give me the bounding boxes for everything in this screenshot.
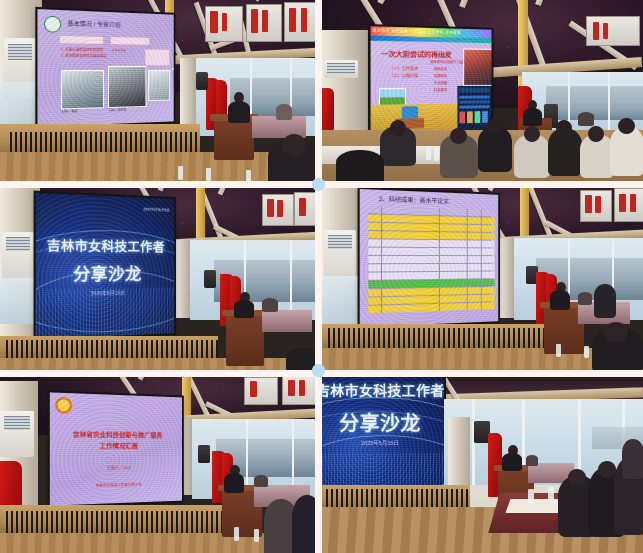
- pillar: [448, 417, 470, 487]
- slide-thumb-caption: 人物二 研究员: [108, 107, 126, 112]
- wall-banner: [614, 188, 643, 222]
- city-skyline: [546, 86, 643, 110]
- photo-cell-2[interactable]: 基本情况 科研成果 人才培养 社会服务 未来展望 一次大胆尝试的再出发 （一）工…: [322, 0, 643, 181]
- photo-3-scene: 吉林市科学技术协会 吉林市女科技工作者 分享沙龙 2025年5月15日: [0, 188, 315, 370]
- stage-skyline-silhouette: [10, 132, 200, 154]
- slide-title-line1: 吉林市女科技工作者: [322, 381, 444, 401]
- water-bottle: [254, 529, 259, 542]
- wall-banner: [282, 377, 315, 405]
- loudspeaker: [196, 72, 208, 90]
- slide-list-item: 科研攻关: [434, 66, 447, 71]
- pillar: [176, 240, 190, 318]
- slide-bullet: （一）工作现状: [389, 66, 418, 72]
- photo-cell-3[interactable]: 吉林市科学技术协会 吉林市女科技工作者 分享沙龙 2025年5月15日: [0, 188, 315, 370]
- slide-list-item: 社会服务: [434, 87, 447, 92]
- gold-column: [196, 188, 205, 244]
- water-bottle: [246, 170, 251, 181]
- water-bottle: [584, 346, 589, 358]
- slide-logo-icon: [55, 397, 72, 414]
- photo-cell-5[interactable]: 吉林省农业科技创新与推广服务 工作情况汇报 汇报人：XXX 吉林市女科技工作者分…: [0, 377, 315, 553]
- slide-thumb-caption: 人物一 教授: [61, 109, 78, 114]
- led-screen: 吉林省农业科技创新与推广服务 工作情况汇报 汇报人：XXX 吉林市女科技工作者分…: [50, 392, 182, 505]
- slide-title-line2: 工作情况汇报: [50, 440, 182, 450]
- pillar: [500, 238, 514, 318]
- slide-corner-text: 吉林市科学技术协会: [143, 206, 170, 212]
- wall-banner: [262, 194, 294, 226]
- water-bottle: [528, 489, 534, 504]
- slide-title-line2: 分享沙龙: [36, 260, 175, 286]
- photo-5-scene: 吉林省农业科技创新与推广服务 工作情况汇报 汇报人：XXX 吉林市女科技工作者分…: [0, 377, 315, 553]
- air-conditioner: [2, 232, 34, 282]
- led-screen: 基本情况 科研成果 人才培养 社会服务 未来展望 一次大胆尝试的再出发 （一）工…: [371, 26, 492, 134]
- standing-person: [594, 284, 616, 318]
- led-screen: 吉林市科学技术协会 吉林市女科技工作者 分享沙龙 2025年5月15日: [36, 193, 175, 339]
- attendee: [262, 298, 278, 312]
- slide-title-line2: 分享沙龙: [322, 407, 444, 436]
- stage-skyline-silhouette: [328, 328, 544, 348]
- slide-list-item: 平台搭建: [434, 80, 447, 85]
- air-conditioner: [0, 411, 34, 457]
- air-conditioner: [324, 230, 356, 282]
- loudspeaker: [204, 270, 216, 288]
- audience-member: [622, 439, 643, 479]
- wall-banner: [246, 4, 282, 42]
- gutter-dot: [312, 178, 325, 191]
- speaker-body: [228, 101, 250, 123]
- water-bottle: [426, 146, 431, 160]
- attendee: [526, 455, 538, 466]
- wall-banner: [586, 16, 640, 46]
- led-screen: 2、科研成果：高水平论文 吉林大学: [360, 189, 499, 327]
- photo-cell-4[interactable]: 2、科研成果：高水平论文 吉林大学: [322, 188, 643, 370]
- slide-title: 基本情况 / 专家介绍: [67, 19, 120, 30]
- slide-portrait: [61, 70, 104, 109]
- wall-banner: [580, 190, 612, 222]
- audience-foreground: [292, 495, 315, 553]
- photo-cell-6[interactable]: 吉林市女科技工作者 分享沙龙 2025年5月15日: [322, 377, 643, 553]
- photo-2-scene: 基本情况 科研成果 人才培养 社会服务 未来展望 一次大胆尝试的再出发 （一）工…: [322, 0, 643, 181]
- slide-portrait: [108, 66, 146, 108]
- slide-portrait: [148, 70, 170, 101]
- audience-foreground: [336, 150, 384, 181]
- stage-skyline-silhouette: [6, 511, 226, 533]
- slide-subtitle: 2025年5月15日: [322, 439, 444, 447]
- podium: [226, 314, 264, 366]
- water-bottle: [178, 166, 183, 180]
- water-bottle: [548, 487, 554, 502]
- wall-banner: [284, 2, 315, 42]
- photo-4-scene: 2、科研成果：高水平论文 吉林大学: [322, 188, 643, 370]
- slide-bullet: （二）心路历程: [389, 73, 418, 79]
- red-flag: [322, 88, 334, 134]
- photo-cell-1[interactable]: 基本情况 / 专家介绍 1. 主要从事新型材料的研究 2. 承担国家自然科学基金…: [0, 0, 315, 181]
- audience-foreground: [286, 348, 315, 370]
- slide-title-line1: 吉林省农业科技创新与推广服务: [50, 428, 182, 439]
- water-bottle: [234, 527, 239, 541]
- attendee: [254, 475, 268, 487]
- photo-6-scene: 吉林市女科技工作者 分享沙龙 2025年5月15日: [322, 377, 643, 553]
- photo-collage: 基本情况 / 专家介绍 1. 主要从事新型材料的研究 2. 承担国家自然科学基金…: [0, 0, 643, 553]
- wall-banner: [205, 6, 243, 42]
- head-table: [262, 310, 312, 332]
- floor: [0, 358, 315, 370]
- water-bottle: [434, 148, 439, 161]
- water-bottle: [206, 168, 211, 181]
- wall-banner: [244, 377, 278, 405]
- speaker-body: [224, 473, 244, 493]
- speaker-body: [523, 108, 542, 126]
- photo-1-scene: 基本情况 / 专家介绍 1. 主要从事新型材料的研究 2. 承担国家自然科学基金…: [0, 0, 315, 181]
- attendee: [578, 292, 592, 305]
- attendee: [276, 104, 292, 120]
- slide-group-photo: [463, 49, 491, 86]
- slide-title-line1: 吉林市女科技工作者: [36, 235, 175, 256]
- water-bottle: [556, 344, 561, 357]
- slide-table: [368, 206, 491, 313]
- slide-list-item: 成果转化: [434, 73, 447, 78]
- gutter-dot: [312, 364, 325, 377]
- stage-skyline-silhouette: [6, 340, 218, 358]
- speaker-body: [234, 300, 254, 318]
- gold-column: [520, 188, 529, 240]
- air-conditioner: [324, 60, 358, 78]
- led-screen: 基本情况 / 专家介绍 1. 主要从事新型材料的研究 2. 承担国家自然科学基金…: [37, 9, 173, 127]
- slide-list-item: 培养青年科技骨干力量: [430, 59, 463, 64]
- loudspeaker: [198, 445, 210, 463]
- slide-list-item: 团队建设: [434, 52, 447, 57]
- slide-note-2: 2. 承担国家自然科学基金项目: [61, 54, 106, 59]
- podium: [214, 118, 254, 160]
- wall-banner: [294, 192, 315, 226]
- stage-skyline-silhouette: [326, 489, 468, 509]
- speaker-body: [550, 290, 570, 310]
- slide-note-1: 1. 主要从事新型材料的研究: [61, 47, 103, 52]
- led-screen: 吉林市女科技工作者 分享沙龙 2025年5月15日: [322, 377, 444, 499]
- speaker-body: [502, 453, 522, 471]
